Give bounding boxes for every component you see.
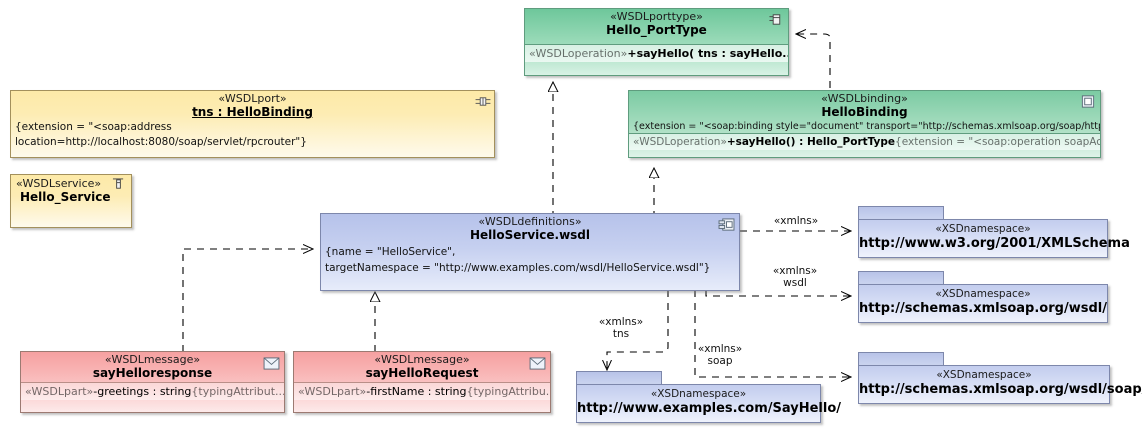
message-request-part-extension: {typingAttribu... (467, 385, 551, 398)
porttype-name: Hello_PortType (543, 24, 770, 38)
edge-label-stereotype: «xmlns» (690, 343, 750, 355)
namespace-xmlschema-stereotype: «XSDnamespace» (859, 223, 1107, 235)
message-response-part-stereotype: «WSDLpart» (25, 385, 93, 398)
namespace-xmlschema-name: http://www.w3.org/2001/XMLSchema (859, 235, 1107, 251)
edge-label-xmlns-xmlschema: «xmlns» (766, 215, 826, 227)
node-wsdl-binding[interactable]: «WSDLbinding» HelloBinding {extension = … (628, 90, 1101, 158)
edge-label-stereotype: «xmlns» (591, 316, 651, 328)
node-wsdl-message-response[interactable]: «WSDLmessage» sayHelloresponse «WSDLpart… (20, 351, 285, 413)
port-tagged-line-1: {extension = "<soap:address (11, 120, 494, 134)
message-request-part-row: «WSDLpart»-firstName : string{typingAttr… (294, 382, 550, 400)
port-header: «WSDLport» tns : HelloBinding (11, 91, 494, 120)
message-request-part: -firstName : string (366, 385, 466, 398)
message-response-part-row: «WSDLpart»-greetings : string{typingAttr… (21, 382, 284, 400)
service-name: Hello_Service (16, 191, 115, 205)
port-icon (474, 94, 490, 109)
porttype-icon (768, 12, 784, 27)
binding-icon (1080, 94, 1096, 109)
message-response-part-extension: {typingAttribut... (191, 385, 284, 398)
namespace-soap-name: http://schemas.xmlsoap.org/wsdl/soap/ (859, 381, 1109, 397)
porttype-stereotype: «WSDLporttype» (543, 11, 770, 24)
node-wsdl-message-request[interactable]: «WSDLmessage» sayHelloRequest «WSDLpart»… (293, 351, 551, 413)
binding-stereotype: «WSDLbinding» (647, 93, 1082, 106)
package-tab (858, 206, 944, 220)
namespace-sayhello-stereotype: «XSDnamespace» (577, 388, 820, 400)
node-namespace-xmlschema[interactable]: «XSDnamespace» http://www.w3.org/2001/XM… (858, 206, 1108, 258)
edge-label-value: tns (591, 328, 651, 340)
port-stereotype: «WSDLport» (29, 93, 476, 106)
node-wsdl-definitions[interactable]: «WSDLdefinitions» HelloService.wsdl {nam… (320, 213, 740, 291)
namespace-wsdl-body: «XSDnamespace» http://schemas.xmlsoap.or… (858, 284, 1108, 323)
namespace-soap-stereotype: «XSDnamespace» (859, 369, 1109, 381)
message-envelope-icon (529, 356, 545, 371)
namespace-wsdl-name: http://schemas.xmlsoap.org/wsdl/ (859, 300, 1107, 316)
namespace-sayhello-name: http://www.examples.com/SayHello/ (577, 400, 820, 416)
message-response-name: sayHelloresponse (39, 367, 266, 381)
namespace-wsdl-stereotype: «XSDnamespace» (859, 288, 1107, 300)
namespace-sayhello-body: «XSDnamespace» http://www.examples.com/S… (576, 384, 821, 423)
package-tab (858, 271, 944, 285)
node-namespace-wsdl[interactable]: «XSDnamespace» http://schemas.xmlsoap.or… (858, 271, 1108, 323)
package-tab (576, 371, 662, 385)
node-wsdl-service[interactable]: «WSDLservice» Hello_Service (10, 174, 132, 228)
definitions-header: «WSDLdefinitions» HelloService.wsdl (321, 214, 739, 244)
binding-name: HelloBinding (647, 106, 1082, 120)
definitions-name: HelloService.wsdl (339, 229, 721, 243)
edge-label-stereotype: «xmlns» (766, 215, 826, 227)
message-request-name: sayHelloRequest (312, 367, 532, 381)
edge-label-xmlns-wsdl: «xmlns» wsdl (765, 265, 825, 289)
edge-label-stereotype: «xmlns» (765, 265, 825, 277)
service-stereotype: «WSDLservice» (16, 178, 115, 191)
binding-header: «WSDLbinding» HelloBinding (629, 91, 1100, 120)
binding-operation-row: «WSDLoperation»+sayHello() : Hello_PortT… (629, 133, 1100, 150)
package-tab (858, 352, 944, 366)
node-wsdl-port[interactable]: «WSDLport» tns : HelloBinding {extension… (10, 90, 495, 158)
edge-label-value: wsdl (765, 277, 825, 289)
message-request-header: «WSDLmessage» sayHelloRequest (294, 352, 550, 382)
binding-operation-extension: {extension = "<soap:operation soapAction… (895, 136, 1100, 148)
node-wsdl-porttype[interactable]: «WSDLporttype» Hello_PortType «WSDLopera… (524, 8, 789, 76)
porttype-operation-row: «WSDLoperation»+sayHello( tns : sayHello… (525, 44, 788, 62)
message-request-stereotype: «WSDLmessage» (312, 354, 532, 367)
uml-diagram-canvas: «WSDLporttype» Hello_PortType «WSDLopera… (0, 0, 1142, 447)
component-icon (718, 218, 734, 233)
message-response-stereotype: «WSDLmessage» (39, 354, 266, 367)
binding-operation: +sayHello() : Hello_PortType (727, 136, 895, 148)
message-request-part-stereotype: «WSDLpart» (298, 385, 366, 398)
node-namespace-sayhello[interactable]: «XSDnamespace» http://www.examples.com/S… (576, 371, 821, 423)
edge-label-xmlns-tns: «xmlns» tns (591, 316, 651, 340)
definitions-tagged-line-2: targetNamespace = "http://www.examples.c… (321, 260, 739, 275)
message-response-header: «WSDLmessage» sayHelloresponse (21, 352, 284, 382)
porttype-header: «WSDLporttype» Hello_PortType (525, 9, 788, 40)
binding-operation-stereotype: «WSDLoperation» (633, 136, 727, 148)
service-icon (112, 177, 128, 192)
port-tagged-line-2: location=http://localhost:8080/soap/serv… (11, 135, 494, 149)
porttype-operation: +sayHello( tns : sayHello... (627, 47, 788, 60)
service-header: «WSDLservice» Hello_Service (11, 175, 131, 204)
node-namespace-soap[interactable]: «XSDnamespace» http://schemas.xmlsoap.or… (858, 352, 1110, 404)
porttype-operation-stereotype: «WSDLoperation» (529, 47, 627, 60)
definitions-stereotype: «WSDLdefinitions» (339, 216, 721, 229)
namespace-xmlschema-body: «XSDnamespace» http://www.w3.org/2001/XM… (858, 219, 1108, 258)
message-envelope-icon (263, 356, 279, 371)
message-response-part: -greetings : string (93, 385, 191, 398)
port-name: tns : HelloBinding (29, 106, 476, 120)
edge-label-xmlns-soap: «xmlns» soap (690, 343, 750, 367)
binding-tagged-value: {extension = "<soap:binding style="docum… (629, 120, 1100, 133)
definitions-tagged-line-1: {name = "HelloService", (321, 244, 739, 259)
edge-label-value: soap (690, 355, 750, 367)
namespace-soap-body: «XSDnamespace» http://schemas.xmlsoap.or… (858, 365, 1110, 404)
